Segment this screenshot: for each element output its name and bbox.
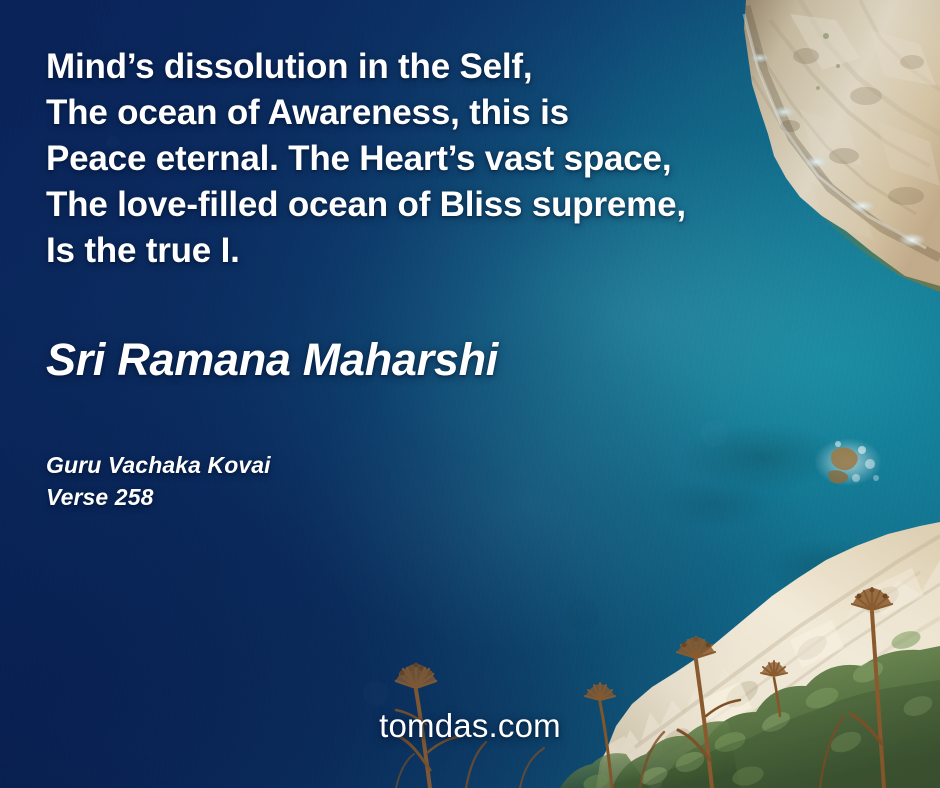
quote-line-1: Mind’s dissolution in the Self, xyxy=(46,44,806,90)
source-citation: Guru Vachaka Kovai Verse 258 xyxy=(46,449,271,513)
quote-card: Mind’s dissolution in the Self, The ocea… xyxy=(0,0,940,788)
quote-line-3: Peace eternal. The Heart’s vast space, xyxy=(46,136,806,182)
source-verse: Verse 258 xyxy=(46,481,271,513)
quote-line-5: Is the true I. xyxy=(46,228,806,274)
author-name: Sri Ramana Maharshi xyxy=(46,332,498,388)
website-url: tomdas.com xyxy=(0,707,940,745)
quote-line-4: The love-filled ocean of Bliss supreme, xyxy=(46,182,806,228)
quote-block: Mind’s dissolution in the Self, The ocea… xyxy=(46,44,806,274)
source-title: Guru Vachaka Kovai xyxy=(46,449,271,481)
quote-line-2: The ocean of Awareness, this is xyxy=(46,90,806,136)
